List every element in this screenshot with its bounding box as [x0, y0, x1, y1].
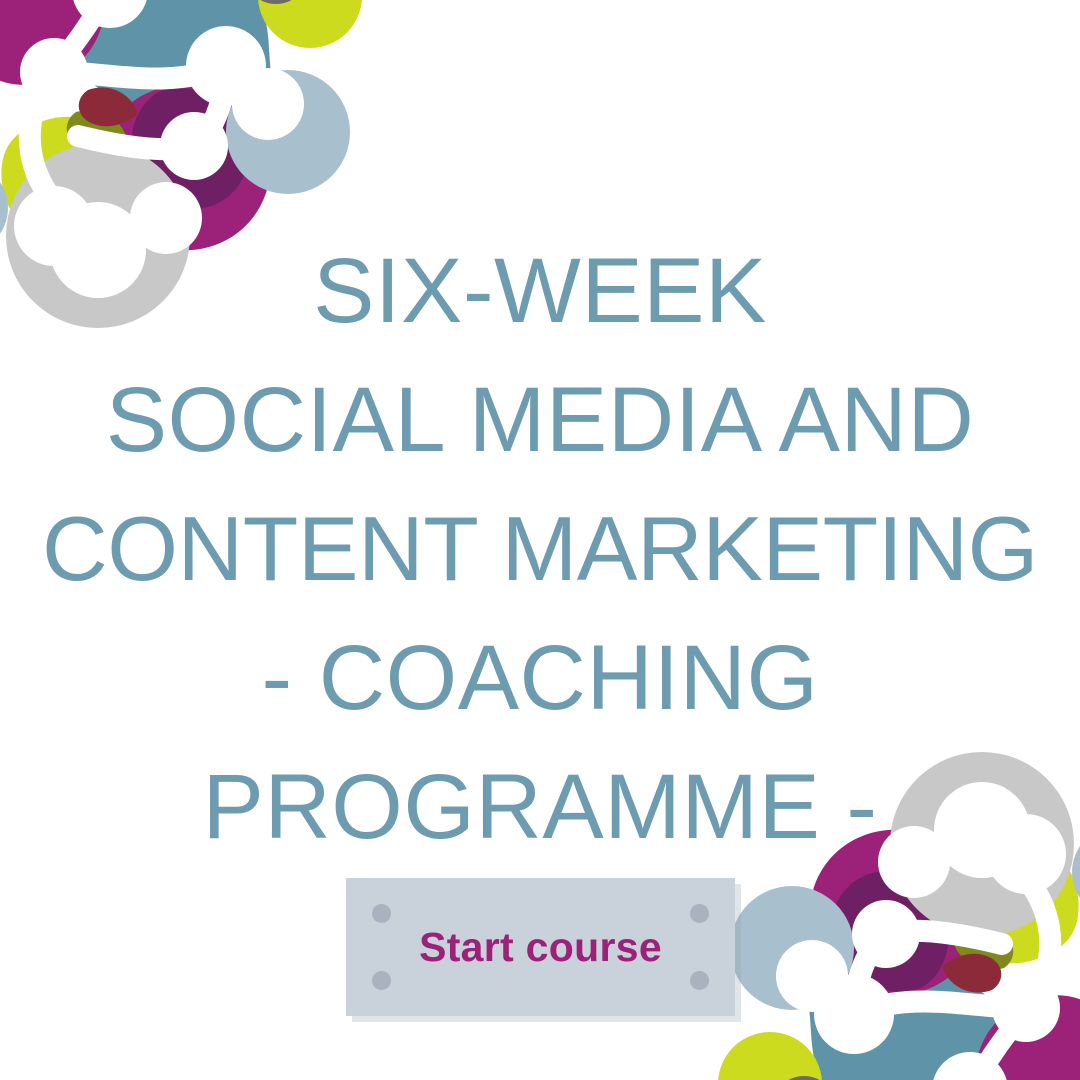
- title-line-3: CONTENT MARKETING: [0, 485, 1080, 614]
- title-line-2: SOCIAL MEDIA AND: [0, 356, 1080, 485]
- rivet-top-right-icon: [690, 904, 709, 923]
- start-course-button[interactable]: Start course: [346, 878, 735, 1016]
- page-title: SIX-WEEK SOCIAL MEDIA AND CONTENT MARKET…: [0, 227, 1080, 872]
- title-line-4: - COACHING: [0, 614, 1080, 743]
- rivet-bottom-left-icon: [372, 971, 391, 990]
- rivet-top-left-icon: [372, 904, 391, 923]
- course-promo-card: SIX-WEEK SOCIAL MEDIA AND CONTENT MARKET…: [0, 0, 1080, 1080]
- title-line-1: SIX-WEEK: [0, 227, 1080, 356]
- start-course-label: Start course: [419, 927, 662, 968]
- title-line-5: PROGRAMME -: [0, 743, 1080, 872]
- rivet-bottom-right-icon: [690, 971, 709, 990]
